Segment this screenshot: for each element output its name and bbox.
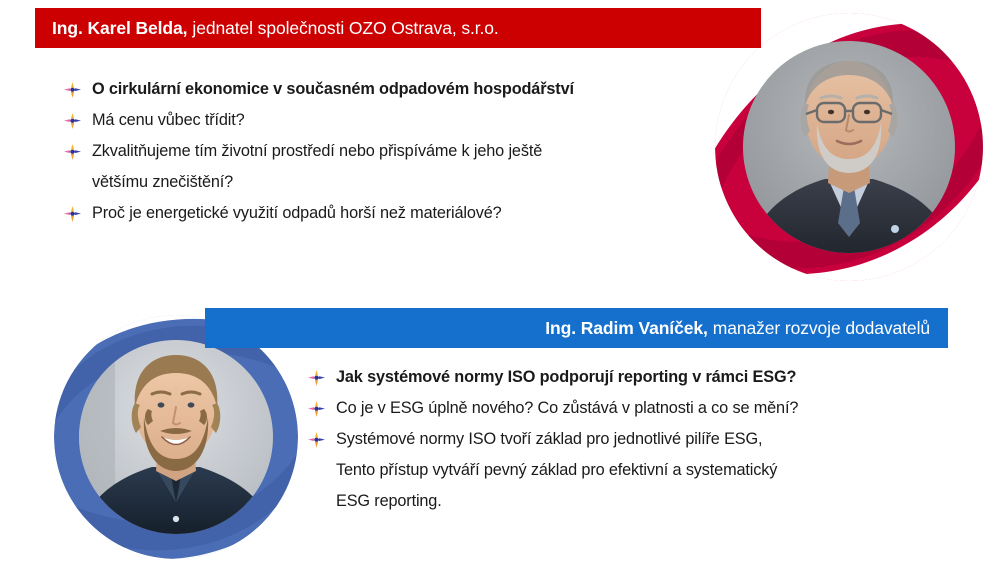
- list-item-line: Tento přístup vytváří pevný základ pro e…: [336, 455, 968, 486]
- four-point-star-bullet-icon: [64, 74, 81, 105]
- list-item: Jak systémové normy ISO podporují report…: [308, 362, 968, 393]
- speaker-role-vanicek: manažer rozvoje dodavatelů: [713, 318, 930, 339]
- speaker-name-vanicek: Ing. Radim Vaníček,: [545, 318, 707, 339]
- list-item-line: většímu znečištění?: [92, 167, 714, 198]
- list-item-label: Co je v ESG úplně nového? Co zůstává v p…: [336, 393, 968, 424]
- speaker-photo-vanicek: [52, 313, 300, 561]
- four-point-star-bullet-icon: [308, 424, 325, 455]
- four-point-star-bullet-icon: [308, 393, 325, 424]
- speaker-header-vanicek: Ing. Radim Vaníček, manažer rozvoje doda…: [205, 308, 948, 348]
- four-point-star-bullet-icon: [64, 198, 81, 229]
- list-item-label: Jak systémové normy ISO podporují report…: [336, 362, 968, 393]
- list-item-label: Proč je energetické využití odpadů horší…: [92, 198, 714, 229]
- list-item-label: Systémové normy ISO tvoří základ pro jed…: [336, 424, 968, 517]
- list-item: Co je v ESG úplně nového? Co zůstává v p…: [308, 393, 968, 424]
- list-item: Systémové normy ISO tvoří základ pro jed…: [308, 424, 968, 517]
- slide-canvas: Ing. Karel Belda, jednatel společnosti O…: [0, 0, 1000, 563]
- list-item-label: Zkvalitňujeme tím životní prostředí nebo…: [92, 136, 714, 198]
- list-item-line: ESG reporting.: [336, 486, 968, 517]
- bullet-list-belda: O cirkulární ekonomice v současném odpad…: [64, 74, 714, 229]
- list-item-line: Systémové normy ISO tvoří základ pro jed…: [336, 424, 968, 455]
- speaker-name-belda: Ing. Karel Belda,: [52, 18, 187, 39]
- speaker-role-belda: jednatel společnosti OZO Ostrava, s.r.o.: [192, 18, 498, 39]
- speaker-header-belda: Ing. Karel Belda, jednatel společnosti O…: [35, 8, 761, 48]
- list-item: Má cenu vůbec třídit?: [64, 105, 714, 136]
- four-point-star-bullet-icon: [64, 136, 81, 167]
- speaker-photo-belda: [713, 11, 985, 283]
- list-item-label: O cirkulární ekonomice v současném odpad…: [92, 74, 714, 105]
- list-item: O cirkulární ekonomice v současném odpad…: [64, 74, 714, 105]
- list-item-label: Má cenu vůbec třídit?: [92, 105, 714, 136]
- list-item: Proč je energetické využití odpadů horší…: [64, 198, 714, 229]
- four-point-star-bullet-icon: [308, 362, 325, 393]
- list-item-line: Zkvalitňujeme tím životní prostředí nebo…: [92, 136, 714, 167]
- bullet-list-vanicek: Jak systémové normy ISO podporují report…: [308, 362, 968, 517]
- four-point-star-bullet-icon: [64, 105, 81, 136]
- list-item: Zkvalitňujeme tím životní prostředí nebo…: [64, 136, 714, 198]
